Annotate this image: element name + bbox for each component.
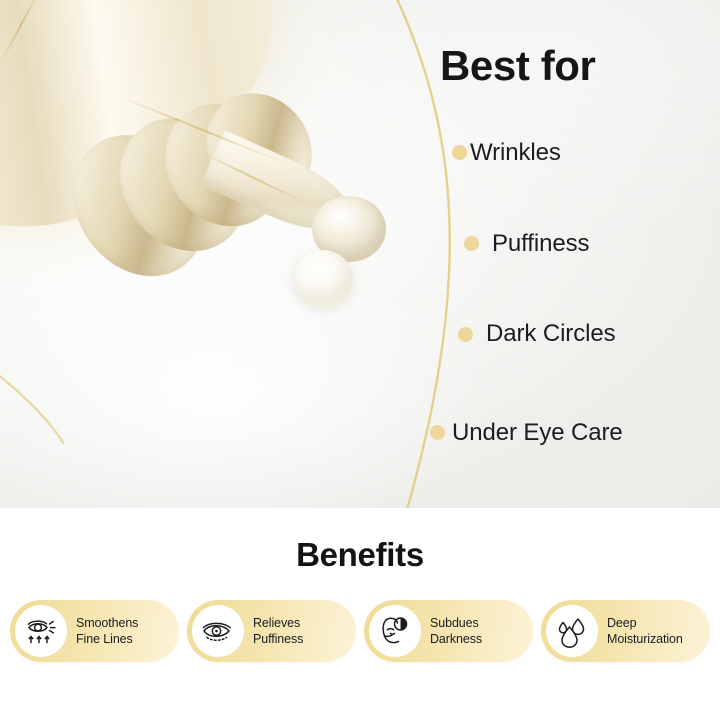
list-bullet-dot	[464, 236, 479, 251]
benefits-title: Benefits	[0, 536, 720, 574]
benefit-label-line2: Fine Lines	[76, 631, 138, 648]
benefit-pill-label: Smoothens Fine Lines	[76, 615, 138, 648]
list-bullet-dot	[430, 425, 445, 440]
face-dark-circle-icon	[369, 605, 421, 657]
list-item: Puffiness	[492, 230, 589, 258]
benefit-pill[interactable]: Relieves Puffiness	[187, 600, 356, 662]
list-bullet-dot	[458, 327, 473, 342]
benefit-label-line1: Subdues	[430, 615, 482, 632]
benefit-label-line1: Deep	[607, 615, 683, 632]
water-droplets-icon	[546, 605, 598, 657]
benefit-pill-label: Subdues Darkness	[430, 615, 482, 648]
benefit-label-line1: Relieves	[253, 615, 303, 632]
list-bullet-dot	[452, 145, 467, 160]
benefit-pill-label: Deep Moisturization	[607, 615, 683, 648]
list-item: Under Eye Care	[452, 419, 623, 447]
list-item: Wrinkles	[470, 139, 561, 167]
list-item: Dark Circles	[486, 320, 615, 348]
benefit-label-line1: Smoothens	[76, 615, 138, 632]
benefit-pill-label: Relieves Puffiness	[253, 615, 303, 648]
benefit-pill[interactable]: Smoothens Fine Lines	[10, 600, 179, 662]
benefits-pill-row: Smoothens Fine Lines Relieves Puffiness	[10, 600, 710, 662]
benefit-label-line2: Puffiness	[253, 631, 303, 648]
best-for-list: Wrinkles Puffiness Dark Circles Under Ey…	[0, 0, 720, 508]
benefit-label-line2: Darkness	[430, 631, 482, 648]
benefits-section: Benefits Smoothens Fine Lines	[0, 508, 720, 720]
eye-relieved-icon	[192, 605, 244, 657]
hero-section: fl.oz. 30 ml Best for Wrinkles Puffiness…	[0, 0, 720, 508]
eye-upward-arrows-icon	[15, 605, 67, 657]
benefit-label-line2: Moisturization	[607, 631, 683, 648]
benefit-pill[interactable]: Deep Moisturization	[541, 600, 710, 662]
benefit-pill[interactable]: Subdues Darkness	[364, 600, 533, 662]
